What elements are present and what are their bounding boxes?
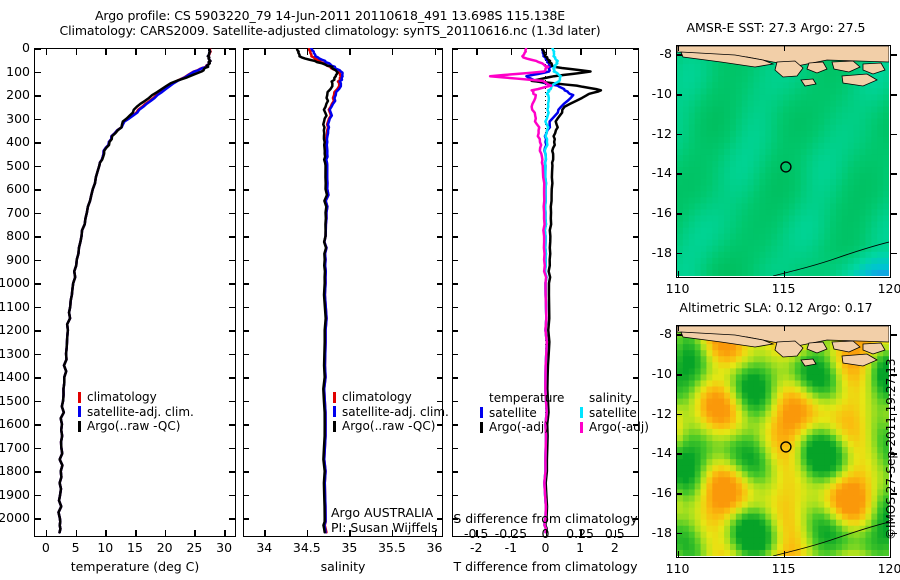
lon-tick: [678, 551, 680, 557]
lat-label--16: -16: [642, 205, 672, 220]
temperature-ytick-1900: 1900: [0, 487, 30, 502]
diff-s-xtick-0.5: 0.5: [593, 526, 637, 541]
legend-label: satellite: [489, 406, 537, 421]
temperature-ytick-1200: 1200: [0, 322, 30, 337]
legend-row: satellite: [480, 406, 564, 421]
lon-label-115: 115: [764, 561, 804, 576]
y-tick: [34, 495, 41, 497]
y-tick-right: [633, 260, 639, 262]
figure-canvas: Argo profile: CS 5903220_79 14-Jun-2011 …: [0, 0, 900, 580]
legend-label: climatology: [342, 390, 412, 405]
figure-title: Argo profile: CS 5903220_79 14-Jun-2011 …: [0, 8, 660, 38]
y-tick: [243, 307, 249, 309]
y-tick: [243, 166, 249, 168]
diff-t-xtick--2: -2: [460, 540, 492, 555]
y-tick-right: [437, 260, 443, 262]
x-tick: [135, 530, 137, 537]
y-tick: [452, 142, 458, 144]
y-tick: [452, 424, 458, 426]
temperature-xtick-20: 20: [149, 540, 181, 555]
lon-label-110: 110: [658, 281, 698, 296]
lon-tick-top: [890, 45, 892, 51]
y-tick-right: [437, 236, 443, 238]
y-tick-right: [229, 48, 236, 50]
difference-profile-plot: [452, 48, 639, 537]
lon-tick: [784, 271, 786, 277]
y-tick: [243, 72, 249, 74]
y-tick: [452, 471, 458, 473]
y-tick-right: [229, 283, 236, 285]
legend-swatch: [480, 422, 483, 433]
y-tick: [243, 119, 249, 121]
y-tick: [34, 142, 41, 144]
difference-temperature-axis-label: T difference from climatology: [448, 559, 643, 574]
y-tick: [243, 330, 249, 332]
lon-tick-top: [784, 325, 786, 331]
y-tick-right: [229, 495, 236, 497]
x-tick: [194, 530, 196, 537]
y-tick-right: [633, 495, 639, 497]
legend-label: satellite-adj. clim.: [342, 405, 449, 420]
y-tick: [452, 260, 458, 262]
y-tick-right: [633, 471, 639, 473]
y-tick: [243, 495, 249, 497]
y-tick: [34, 260, 41, 262]
legend-swatch: [580, 422, 583, 433]
temperature-ytick-400: 400: [0, 134, 30, 149]
legend-heading-temperature: temperature: [480, 391, 564, 406]
lat-tick-right: [891, 134, 897, 136]
x-tick: [105, 530, 107, 537]
s-tick-top: [476, 48, 478, 55]
diff-t-xtick-1: 1: [564, 540, 596, 555]
salinity-legend: climatologysatellite-adj. clim.Argo(..ra…: [333, 390, 449, 434]
y-tick: [34, 424, 41, 426]
y-tick-right: [437, 307, 443, 309]
temperature-profile-plot: [34, 48, 236, 537]
y-tick-right: [633, 189, 639, 191]
legend-label: satellite: [589, 406, 637, 421]
y-tick-right: [633, 236, 639, 238]
temperature-xtick-5: 5: [60, 540, 92, 555]
temperature-ytick-900: 900: [0, 252, 30, 267]
map-sst-raster: [677, 46, 889, 276]
note-line-1: Argo AUSTRALIA: [331, 505, 438, 520]
legend-row: Argo(..raw -QC): [78, 419, 194, 434]
y-tick-right: [437, 95, 443, 97]
legend-swatch: [580, 407, 583, 418]
salinity-xtick-35.5: 35.5: [372, 540, 412, 555]
s-tick-top: [546, 48, 548, 55]
salinity-profile-plot: [243, 48, 443, 537]
argo-australia-note: Argo AUSTRALIA PI: Susan Wijffels: [331, 505, 438, 535]
temperature-ytick-2000: 2000: [0, 510, 30, 525]
lat-tick-right: [891, 213, 897, 215]
y-tick-right: [633, 377, 639, 379]
lat-label--12: -12: [642, 126, 672, 141]
legend-row: Argo(-adj): [580, 420, 649, 435]
y-tick: [34, 518, 41, 520]
salinity-axis-label: salinity: [243, 559, 443, 574]
legend-label: climatology: [87, 390, 157, 405]
y-tick: [243, 283, 249, 285]
legend-swatch: [78, 406, 81, 417]
diff-t-xtick--1: -1: [495, 540, 527, 555]
lat-tick: [676, 253, 682, 255]
lat-label--12: -12: [642, 406, 672, 421]
y-tick: [452, 213, 458, 215]
y-tick: [452, 495, 458, 497]
y-tick: [452, 119, 458, 121]
map-sst: [676, 45, 891, 278]
y-tick-right: [437, 377, 443, 379]
legend-label: Argo(..raw -QC): [342, 419, 435, 434]
map-sst-title: AMSR-E SST: 27.3 Argo: 27.5: [660, 20, 892, 35]
y-tick-right: [437, 518, 443, 520]
y-tick: [452, 283, 458, 285]
y-tick: [34, 72, 41, 74]
x-tick: [46, 530, 48, 537]
temperature-ytick-800: 800: [0, 228, 30, 243]
y-tick: [34, 119, 41, 121]
y-tick: [243, 95, 249, 97]
y-tick: [243, 448, 249, 450]
y-tick: [452, 330, 458, 332]
lat-tick: [676, 453, 682, 455]
y-tick-right: [633, 166, 639, 168]
lat-label--10: -10: [642, 86, 672, 101]
y-tick-right: [229, 401, 236, 403]
y-tick-right: [633, 72, 639, 74]
temperature-xtick-15: 15: [119, 540, 151, 555]
y-tick-right: [437, 330, 443, 332]
y-tick: [243, 471, 249, 473]
lon-tick-top: [678, 325, 680, 331]
y-tick: [243, 260, 249, 262]
y-tick: [34, 236, 41, 238]
temperature-xtick-30: 30: [208, 540, 240, 555]
legend-label: Argo(-adj): [589, 420, 649, 435]
y-tick-right: [633, 330, 639, 332]
temperature-ytick-200: 200: [0, 87, 30, 102]
lon-tick: [678, 271, 680, 277]
y-tick-right: [437, 283, 443, 285]
lat-tick-right: [891, 94, 897, 96]
y-tick: [34, 448, 41, 450]
y-tick: [34, 354, 41, 356]
legend-row: climatology: [78, 390, 194, 405]
y-tick: [34, 95, 41, 97]
x-tick-top: [76, 48, 78, 55]
y-tick: [452, 377, 458, 379]
legend-row: Argo(..raw -QC): [333, 419, 449, 434]
temperature-legend: climatologysatellite-adj. clim.Argo(..ra…: [78, 390, 194, 434]
x-tick-top: [349, 48, 351, 55]
x-tick: [165, 530, 167, 537]
legend-swatch: [333, 392, 336, 403]
temperature-axis-label: temperature (deg C): [34, 559, 236, 574]
lat-tick: [676, 414, 682, 416]
lat-label--14: -14: [642, 165, 672, 180]
x-tick-top: [224, 48, 226, 55]
temperature-ytick-100: 100: [0, 64, 30, 79]
y-tick: [452, 448, 458, 450]
x-tick-top: [307, 48, 309, 55]
y-tick-right: [229, 354, 236, 356]
lat-tick-right: [891, 173, 897, 175]
lon-tick-top: [784, 45, 786, 51]
lat-label--16: -16: [642, 485, 672, 500]
y-tick: [34, 471, 41, 473]
y-tick-right: [229, 471, 236, 473]
lat-tick: [676, 334, 682, 336]
y-tick-right: [437, 448, 443, 450]
lat-tick: [676, 533, 682, 535]
y-tick-right: [229, 142, 236, 144]
salinity-xtick-34.5: 34.5: [287, 540, 327, 555]
y-tick-right: [437, 189, 443, 191]
temperature-ytick-300: 300: [0, 111, 30, 126]
x-tick-top: [105, 48, 107, 55]
y-tick: [34, 307, 41, 309]
difference-legend-temperature: temperaturesatelliteArgo(-adj): [480, 391, 564, 435]
temperature-ytick-1300: 1300: [0, 346, 30, 361]
y-tick: [243, 213, 249, 215]
legend-label: Argo(..raw -QC): [87, 419, 180, 434]
salinity-xtick-36: 36: [415, 540, 455, 555]
x-tick-top: [435, 48, 437, 55]
lon-tick: [784, 551, 786, 557]
lat-tick: [676, 94, 682, 96]
temperature-ytick-1600: 1600: [0, 416, 30, 431]
salinity-xtick-35: 35: [329, 540, 369, 555]
y-tick: [34, 213, 41, 215]
y-tick: [452, 72, 458, 74]
y-tick: [452, 236, 458, 238]
y-tick-right: [229, 377, 236, 379]
y-tick: [243, 48, 249, 50]
temperature-xtick-10: 10: [89, 540, 121, 555]
difference-legend-salinity: salinitysatelliteArgo(-adj): [580, 391, 649, 435]
y-tick: [243, 401, 249, 403]
y-tick-right: [229, 518, 236, 520]
temperature-ytick-700: 700: [0, 205, 30, 220]
y-tick-right: [437, 213, 443, 215]
lat-label--14: -14: [642, 445, 672, 460]
temperature-ytick-0: 0: [0, 40, 30, 55]
x-tick: [307, 530, 309, 537]
y-tick: [243, 236, 249, 238]
y-tick-right: [229, 166, 236, 168]
map-sla: [676, 325, 891, 558]
y-tick: [452, 401, 458, 403]
title-line-2: Climatology: CARS2009. Satellite-adjuste…: [0, 23, 660, 38]
y-tick-right: [633, 213, 639, 215]
y-tick: [243, 377, 249, 379]
y-tick-right: [229, 236, 236, 238]
y-tick-right: [229, 448, 236, 450]
y-tick: [452, 95, 458, 97]
y-tick: [34, 283, 41, 285]
legend-row: satellite-adj. clim.: [78, 405, 194, 420]
y-tick: [452, 189, 458, 191]
lat-label--10: -10: [642, 366, 672, 381]
y-tick-right: [437, 142, 443, 144]
map-sla-title: Altimetric SLA: 0.12 Argo: 0.17: [660, 300, 892, 315]
note-line-2: PI: Susan Wijffels: [331, 520, 438, 535]
y-tick: [243, 189, 249, 191]
y-tick-right: [437, 72, 443, 74]
title-line-1: Argo profile: CS 5903220_79 14-Jun-2011 …: [0, 8, 660, 23]
temperature-ytick-1800: 1800: [0, 463, 30, 478]
salinity-xtick-34: 34: [244, 540, 284, 555]
lat-tick: [676, 134, 682, 136]
y-tick: [243, 518, 249, 520]
lon-tick: [890, 551, 892, 557]
copyright-watermark: ©IMOS 27-Sep-2011 19:27:13: [884, 358, 898, 540]
legend-swatch: [333, 406, 336, 417]
temperature-ytick-1400: 1400: [0, 369, 30, 384]
lat-tick: [676, 213, 682, 215]
temperature-ytick-600: 600: [0, 181, 30, 196]
y-tick-right: [229, 330, 236, 332]
y-tick-right: [437, 119, 443, 121]
difference-salinity-axis-label: S difference from climatology: [452, 511, 639, 526]
y-tick-right: [229, 72, 236, 74]
lon-label-120: 120: [870, 281, 900, 296]
legend-heading-salinity: salinity: [580, 391, 649, 406]
y-tick-right: [229, 213, 236, 215]
y-tick-right: [633, 119, 639, 121]
temperature-ytick-1100: 1100: [0, 299, 30, 314]
lon-tick-top: [678, 45, 680, 51]
temperature-ytick-1000: 1000: [0, 275, 30, 290]
y-tick: [452, 166, 458, 168]
lon-tick-top: [890, 325, 892, 331]
diff-t-xtick-0: 0: [530, 540, 562, 555]
lat-label--8: -8: [642, 326, 672, 341]
lat-label--18: -18: [642, 245, 672, 260]
y-tick: [34, 166, 41, 168]
temperature-ytick-1500: 1500: [0, 393, 30, 408]
x-tick: [264, 530, 266, 537]
y-tick: [34, 330, 41, 332]
s-tick-top: [580, 48, 582, 55]
legend-row: satellite-adj. clim.: [333, 405, 449, 420]
y-tick-right: [229, 95, 236, 97]
lat-tick: [676, 54, 682, 56]
lat-tick-right: [891, 54, 897, 56]
x-tick-top: [194, 48, 196, 55]
legend-swatch: [78, 392, 81, 403]
y-tick: [452, 354, 458, 356]
temperature-xtick-25: 25: [178, 540, 210, 555]
s-tick-top: [615, 48, 617, 55]
temperature-xtick-0: 0: [30, 540, 62, 555]
x-tick-top: [392, 48, 394, 55]
y-tick-right: [437, 354, 443, 356]
y-tick-right: [229, 260, 236, 262]
y-tick-right: [229, 189, 236, 191]
y-tick: [34, 401, 41, 403]
lon-label-110: 110: [658, 561, 698, 576]
y-tick-right: [633, 142, 639, 144]
legend-swatch: [78, 421, 81, 432]
y-tick: [243, 354, 249, 356]
y-tick: [452, 307, 458, 309]
y-tick-right: [633, 307, 639, 309]
lat-tick-right: [891, 253, 897, 255]
y-tick-right: [229, 307, 236, 309]
y-tick: [34, 377, 41, 379]
legend-label: Argo(-adj): [489, 420, 549, 435]
y-tick: [452, 48, 458, 50]
y-tick-right: [437, 48, 443, 50]
legend-row: Argo(-adj): [480, 420, 564, 435]
x-tick: [76, 530, 78, 537]
x-tick-top: [46, 48, 48, 55]
legend-swatch: [480, 407, 483, 418]
x-tick-top: [165, 48, 167, 55]
y-tick-right: [437, 495, 443, 497]
legend-row: satellite: [580, 406, 649, 421]
x-tick: [224, 530, 226, 537]
lat-tick: [676, 173, 682, 175]
lon-label-115: 115: [764, 281, 804, 296]
y-tick-right: [633, 283, 639, 285]
lon-tick: [890, 271, 892, 277]
x-tick-top: [264, 48, 266, 55]
y-tick-right: [437, 166, 443, 168]
lat-label--18: -18: [642, 525, 672, 540]
lat-tick-right: [891, 334, 897, 336]
y-tick: [243, 424, 249, 426]
lat-tick: [676, 374, 682, 376]
lon-label-120: 120: [870, 561, 900, 576]
legend-row: climatology: [333, 390, 449, 405]
temperature-ytick-1700: 1700: [0, 440, 30, 455]
y-tick-right: [633, 448, 639, 450]
lat-label--8: -8: [642, 46, 672, 61]
temperature-ytick-500: 500: [0, 158, 30, 173]
y-tick: [243, 142, 249, 144]
legend-swatch: [333, 421, 336, 432]
y-tick: [34, 189, 41, 191]
legend-label: satellite-adj. clim.: [87, 405, 194, 420]
y-tick-right: [633, 48, 639, 50]
s-tick-top: [511, 48, 513, 55]
map-sla-raster: [677, 326, 889, 556]
y-tick: [34, 48, 41, 50]
y-tick-right: [633, 354, 639, 356]
y-tick-right: [437, 471, 443, 473]
y-tick-right: [229, 119, 236, 121]
y-tick-right: [633, 95, 639, 97]
lat-tick: [676, 493, 682, 495]
y-tick-right: [229, 424, 236, 426]
diff-t-xtick-2: 2: [599, 540, 631, 555]
x-tick-top: [135, 48, 137, 55]
